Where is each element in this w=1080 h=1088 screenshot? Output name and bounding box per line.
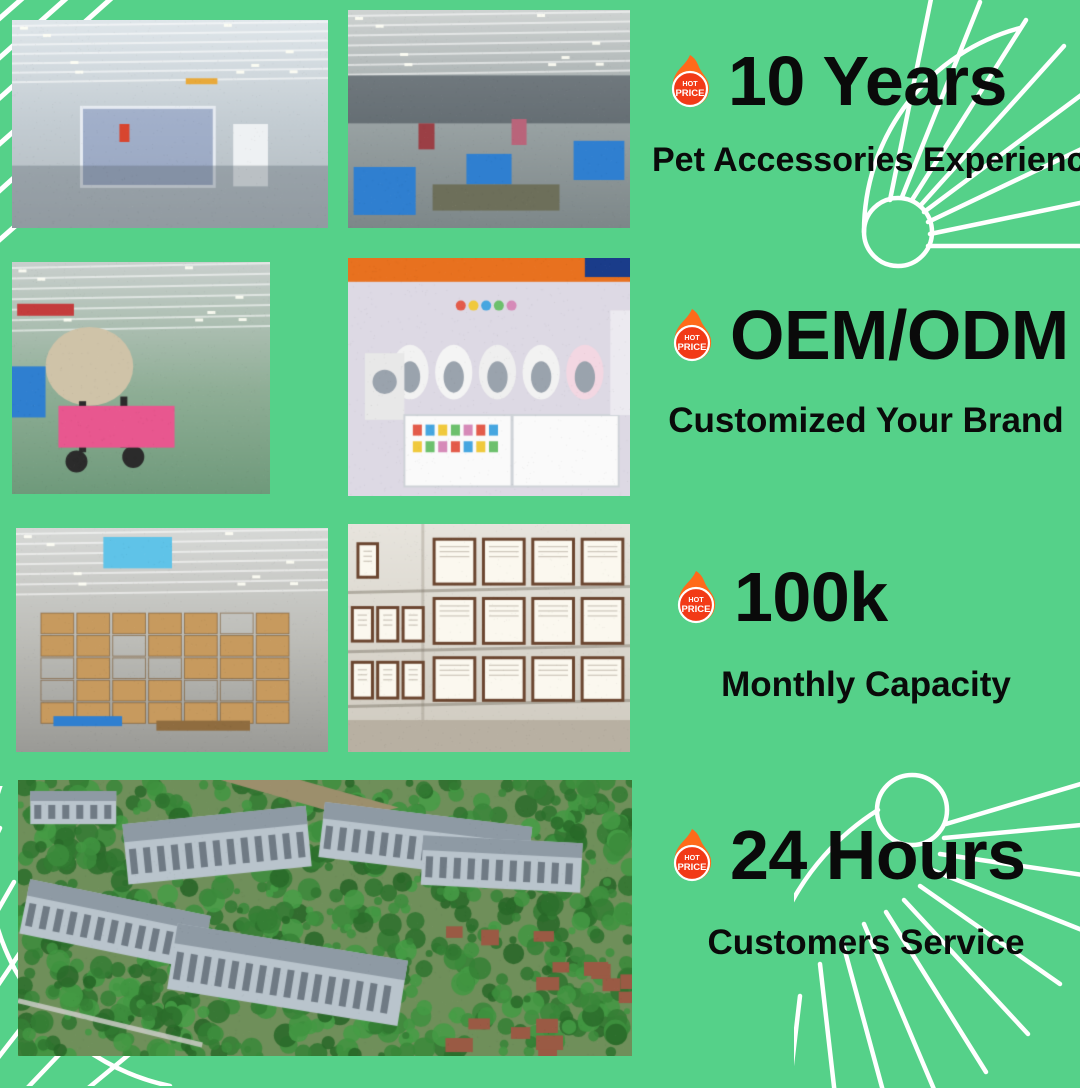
badge-price-text: PRICE — [677, 862, 706, 873]
feature-subline: Customized Your Brand — [652, 401, 1080, 441]
badge-price-text: PRICE — [675, 88, 704, 99]
badge-hot-text: HOT — [684, 333, 700, 342]
flame-icon: HOT PRICE — [672, 571, 720, 625]
feature-item: HOT PRICE 24 Hours Customers Service — [652, 820, 1080, 963]
feature-subline: Customers Service — [652, 923, 1080, 963]
photo-warehouse-cartons — [16, 528, 328, 752]
feature-headline: 100k — [734, 562, 888, 633]
promo-sheet: HOT PRICE 10 Years Pet Accessories Exper… — [0, 0, 1080, 1080]
feature-headline-row: HOT PRICE 10 Years — [652, 46, 1080, 117]
photo-automated-factory-floor — [12, 20, 328, 228]
photo-certificate-wall — [348, 524, 630, 752]
feature-list: HOT PRICE 10 Years Pet Accessories Exper… — [652, 0, 1080, 1080]
badge-hot-text: HOT — [684, 853, 700, 862]
feature-headline: OEM/ODM — [730, 300, 1069, 371]
badge-price-text: PRICE — [677, 342, 706, 353]
feature-headline-row: HOT PRICE 100k — [652, 562, 1080, 633]
flame-icon: HOT PRICE — [666, 55, 714, 109]
feature-item: HOT PRICE 10 Years Pet Accessories Exper… — [652, 46, 1080, 180]
badge-hot-text: HOT — [688, 595, 704, 604]
feature-headline-row: HOT PRICE OEM/ODM — [652, 300, 1080, 371]
photo-aerial-factory-campus — [18, 780, 632, 1056]
feature-headline-row: HOT PRICE 24 Hours — [652, 820, 1080, 891]
feature-headline: 24 Hours — [730, 820, 1026, 891]
flame-icon: HOT PRICE — [668, 829, 716, 883]
feature-headline: 10 Years — [728, 46, 1007, 117]
feature-item: HOT PRICE OEM/ODM Customized Your Brand — [652, 300, 1080, 441]
photo-grid — [0, 0, 652, 1080]
flame-icon: HOT PRICE — [668, 309, 716, 363]
photo-stroller-assembly-line — [12, 262, 270, 494]
badge-price-text: PRICE — [681, 604, 710, 615]
photo-product-showroom — [348, 258, 630, 496]
feature-subline: Pet Accessories Experience — [652, 141, 1080, 180]
feature-subline: Monthly Capacity — [652, 665, 1080, 705]
badge-hot-text: HOT — [682, 79, 698, 88]
photo-sewing-workshop — [348, 10, 630, 228]
feature-item: HOT PRICE 100k Monthly Capacity — [652, 562, 1080, 705]
